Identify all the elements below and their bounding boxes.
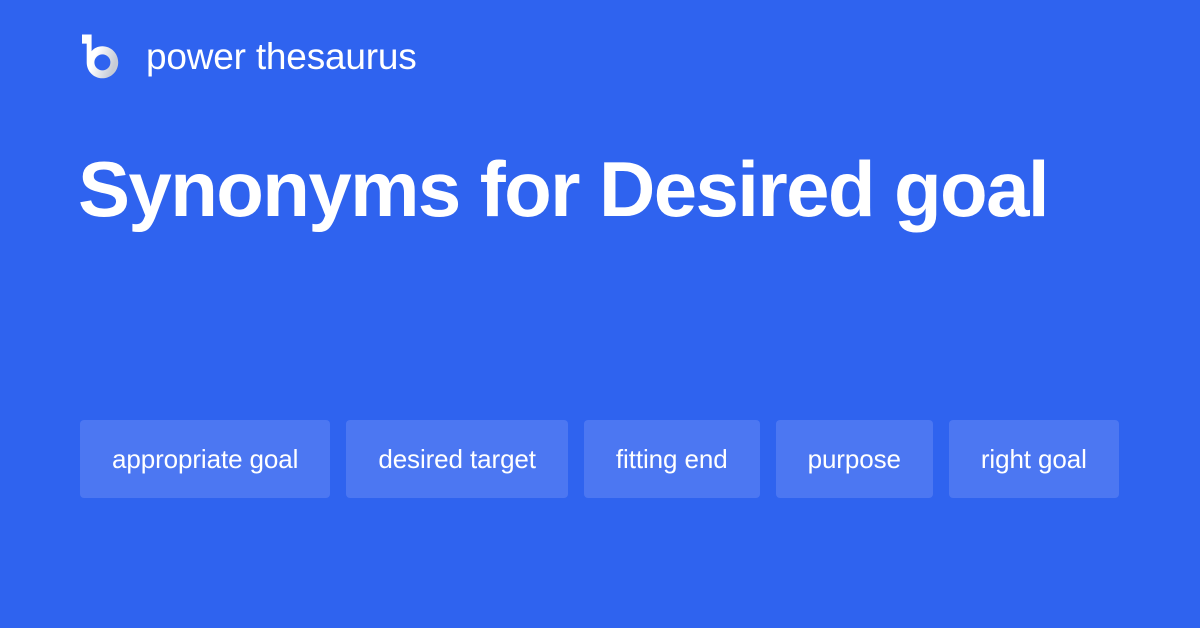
synonym-chip[interactable]: appropriate goal <box>80 420 330 498</box>
brand-name: power thesaurus <box>146 38 417 75</box>
synonym-chip[interactable]: purpose <box>776 420 933 498</box>
synonym-chip[interactable]: desired target <box>346 420 568 498</box>
page-title: Synonyms for Desired goal <box>78 134 1118 245</box>
power-thesaurus-b-logo-icon <box>78 33 124 79</box>
share-card-canvas: power thesaurus Synonyms for Desired goa… <box>0 0 1200 628</box>
brand-header[interactable]: power thesaurus <box>78 30 417 82</box>
synonym-chip[interactable]: fitting end <box>584 420 760 498</box>
synonym-chip-list: appropriate goal desired target fitting … <box>80 420 1120 498</box>
synonym-chip[interactable]: right goal <box>949 420 1119 498</box>
